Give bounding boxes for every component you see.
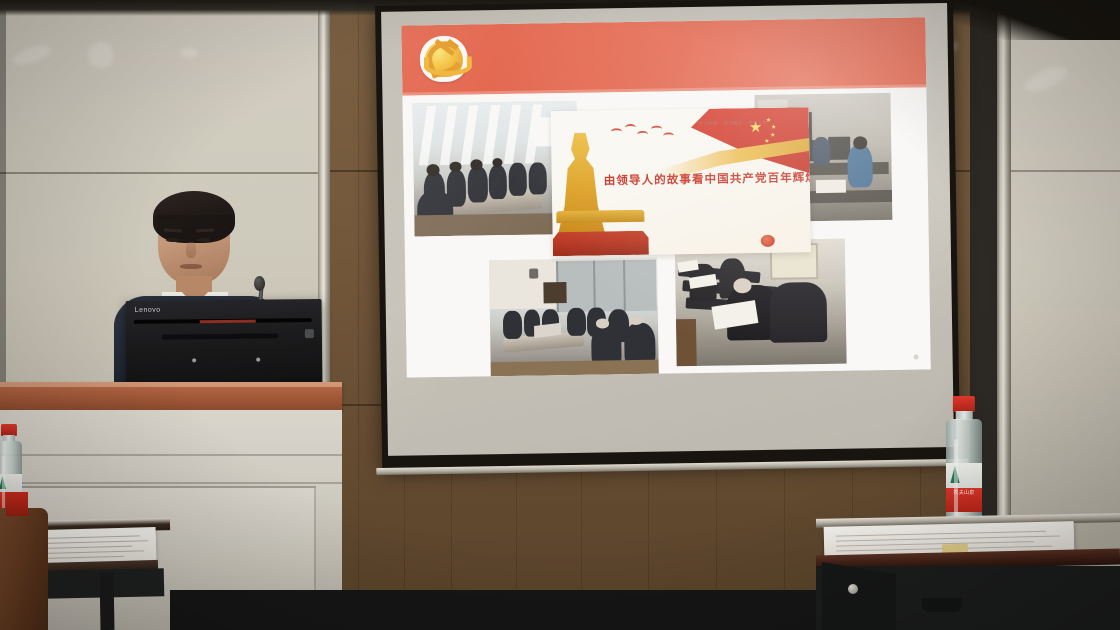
podium-monitor[interactable]: Lenovo <box>126 299 323 387</box>
lenovo-logo: Lenovo <box>135 307 161 314</box>
projected-slide: ★ ★ ★ ★ ★ 学习党史 · 学习团史 · 学生工作 <box>401 17 930 377</box>
scene-root: ★ ★ ★ ★ ★ 学习党史 · 学习团史 · 学生工作 <box>0 0 1120 630</box>
photo-meeting-room-bottom-left <box>489 258 659 377</box>
lectern-top-surface <box>0 382 342 410</box>
cpc-party-emblem-icon <box>419 36 468 83</box>
photo-lecture-seats-bottom-right <box>675 239 847 367</box>
slide-corner-dot <box>914 355 919 360</box>
slide-banner <box>401 17 926 95</box>
slide-micro-text: 学习党史 · 学习团史 · 学生工作 <box>699 120 768 127</box>
photo-theme-slide-center: ★ ★ ★ ★ ★ 学习党史 · 学习团史 · 学生工作 <box>551 107 811 256</box>
slide-body: ★ ★ ★ ★ ★ 学习党史 · 学习团史 · 学生工作 <box>402 87 930 377</box>
projection-screen: ★ ★ ★ ★ ★ 学习党史 · 学习团史 · 学生工作 <box>375 0 960 476</box>
table-knob-icon <box>848 584 858 594</box>
foreground-table-right <box>816 512 1120 630</box>
floor <box>170 590 870 630</box>
water-bottle-right[interactable]: 农夫山泉 <box>946 396 982 530</box>
monitor-power-led <box>305 329 314 338</box>
bird-flock-graphic <box>607 123 685 146</box>
presenter-hair <box>153 191 235 243</box>
red-booklet <box>6 492 28 516</box>
bottle-brand-text: 农夫山泉 <box>946 489 982 496</box>
slide-center-title: 由领导人的故事看中国共产党百年辉煌 <box>604 169 811 188</box>
microphone-head-icon <box>254 276 265 291</box>
foreground-wood-post <box>0 508 48 630</box>
